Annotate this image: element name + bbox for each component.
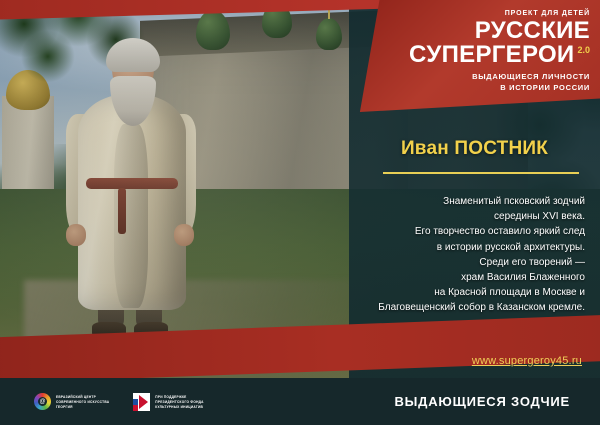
logo-eurasia-center: @ ЕВРАЗИЙСКИЙ ЦЕНТР СОВРЕМЕННОГО ИСКУССТ… [34,393,109,410]
title-divider [383,172,579,174]
onion-dome-icon [316,18,342,50]
hero-given-name: Иван [401,138,449,159]
logo-pfki-line: ПРИ ПОДДЕРЖКЕ [155,395,203,399]
header-version-badge: 2.0 [577,45,590,55]
brand-header-panel: ПРОЕКТ ДЛЯ ДЕТЕЙ РУССКИЕ СУПЕРГЕРОИ 2.0 … [355,0,600,112]
hero-body-line: середины XVI века. [344,209,585,224]
hero-body-line: храм Василия Блаженного [344,270,585,285]
header-kicker: ПРОЕКТ ДЛЯ ДЕТЕЙ [505,10,590,17]
logo-pfki-line: КУЛЬТУРНЫХ ИНИЦИАТИВ [155,405,203,409]
hero-surname: ПОСТНИК [454,138,548,159]
header-title-line2: СУПЕРГЕРОИ [409,43,574,67]
footer-tagline: ВЫДАЮЩИЕСЯ ЗОДЧИЕ [394,394,600,409]
pfki-flag-icon [133,393,150,411]
footer-logo-group: @ ЕВРАЗИЙСКИЙ ЦЕНТР СОВРЕМЕННОГО ИСКУССТ… [0,393,204,411]
figure-hand-left [66,224,86,246]
hero-description: Знаменитый псковский зодчий середины XVI… [344,194,594,316]
hero-body-line: Его творчество оставило яркий след [344,224,585,239]
logo-pfki-line: ПРЕЗИДЕНТСКОГО ФОНДА [155,400,203,404]
site-url-link[interactable]: www.supergeroy45.ru [472,355,582,367]
figure-belt [86,178,178,189]
logo-eurasia-line: ГЕОРГИЯ [56,405,109,409]
figure-belt-tail [118,188,126,234]
poster: ПРОЕКТ ДЛЯ ДЕТЕЙ РУССКИЕ СУПЕРГЕРОИ 2.0 … [0,0,600,425]
logo-pfki: ПРИ ПОДДЕРЖКЕ ПРЕЗИДЕНТСКОГО ФОНДА КУЛЬТ… [133,393,203,411]
architect-figure [60,28,210,346]
hero-body-line: в истории русской архитектуры. [344,240,585,255]
hero-body-line: Знаменитый псковский зодчий [344,194,585,209]
figure-hair [106,38,160,72]
footer-bar: @ ЕВРАЗИЙСКИЙ ЦЕНТР СОВРЕМЕННОГО ИСКУССТ… [0,378,600,425]
logo-eurasia-line: СОВРЕМЕННОГО ИСКУССТВА [56,400,109,404]
figure-hand-right [174,224,194,246]
header-title-line1: РУССКИЕ [475,19,590,43]
logo-eurasia-line: ЕВРАЗИЙСКИЙ ЦЕНТР [56,395,109,399]
hero-body-line: Среди его творений — [344,255,585,270]
hero-body-line: на Красной площади в Москве и [344,285,585,300]
eurasia-circle-icon: @ [34,393,51,410]
page-title: Иван ПОСТНИК [349,138,600,160]
header-subtitle-line2: В ИСТОРИИ РОССИИ [500,83,590,94]
hero-body-line: Благовещенский собор в Казанском кремле. [344,300,585,315]
header-subtitle-line1: ВЫДАЮЩИЕСЯ ЛИЧНОСТИ [472,72,590,83]
